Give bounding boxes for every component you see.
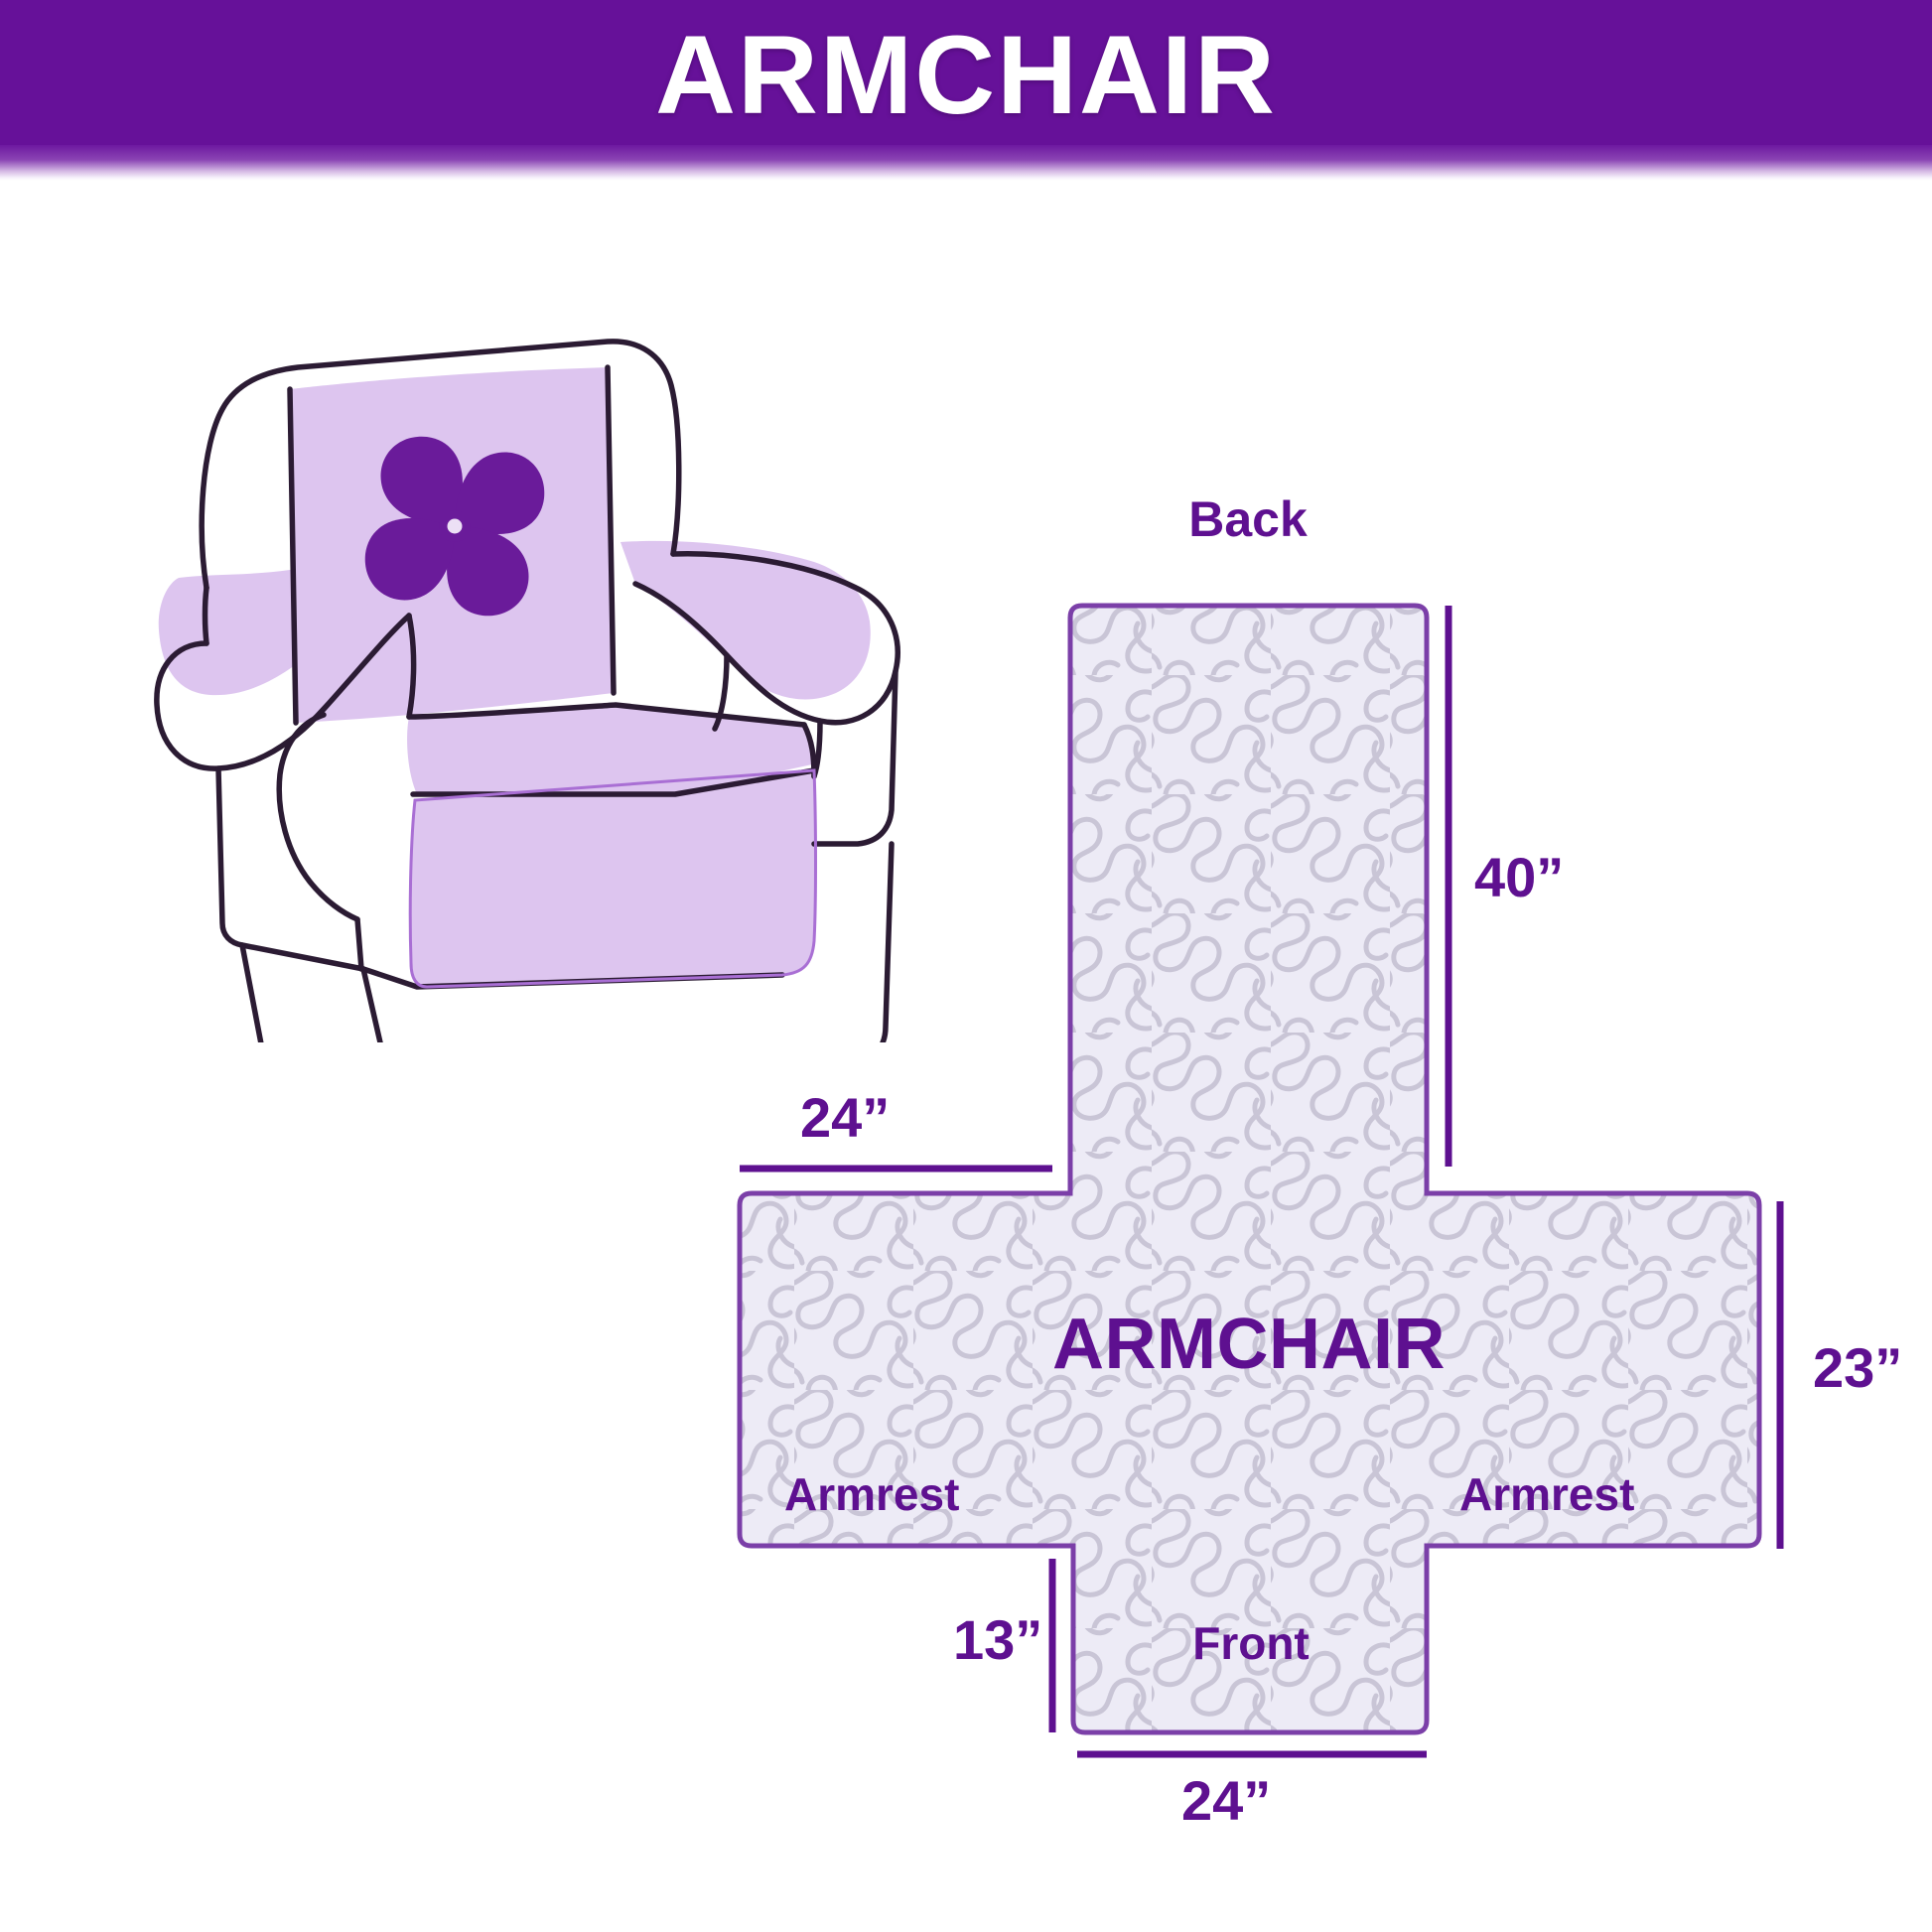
panel-label-armrest-left: Armrest [784, 1471, 959, 1517]
page-title: ARMCHAIR [0, 0, 1932, 149]
fan-pinwheel-icon [365, 437, 545, 617]
dimension-label-back-width: 24” [800, 1090, 890, 1146]
chair-left-arm-inner-scroll [279, 715, 357, 919]
panel-label-armrest-right: Armrest [1459, 1471, 1634, 1517]
dimension-label-front-height: 13” [953, 1612, 1042, 1668]
chair-left-arm-seam [357, 919, 361, 969]
chair-left-arm-front [218, 768, 363, 969]
dimension-label-armrest-height: 23” [1813, 1340, 1902, 1396]
infographic-page: ARMCHAIR [0, 0, 1932, 1932]
panel-label-front: Front [1077, 1620, 1425, 1666]
header-banner-shadow [0, 145, 1932, 181]
panel-label-back: Back [1069, 494, 1427, 544]
dimension-label-front-width: 24” [1181, 1773, 1271, 1829]
dimension-label-back-height: 40” [1474, 850, 1564, 905]
panel-label-center: ARMCHAIR [1052, 1309, 1449, 1380]
chair-back-left-edge [206, 588, 207, 643]
chair-base-inner-fold [363, 969, 385, 1042]
